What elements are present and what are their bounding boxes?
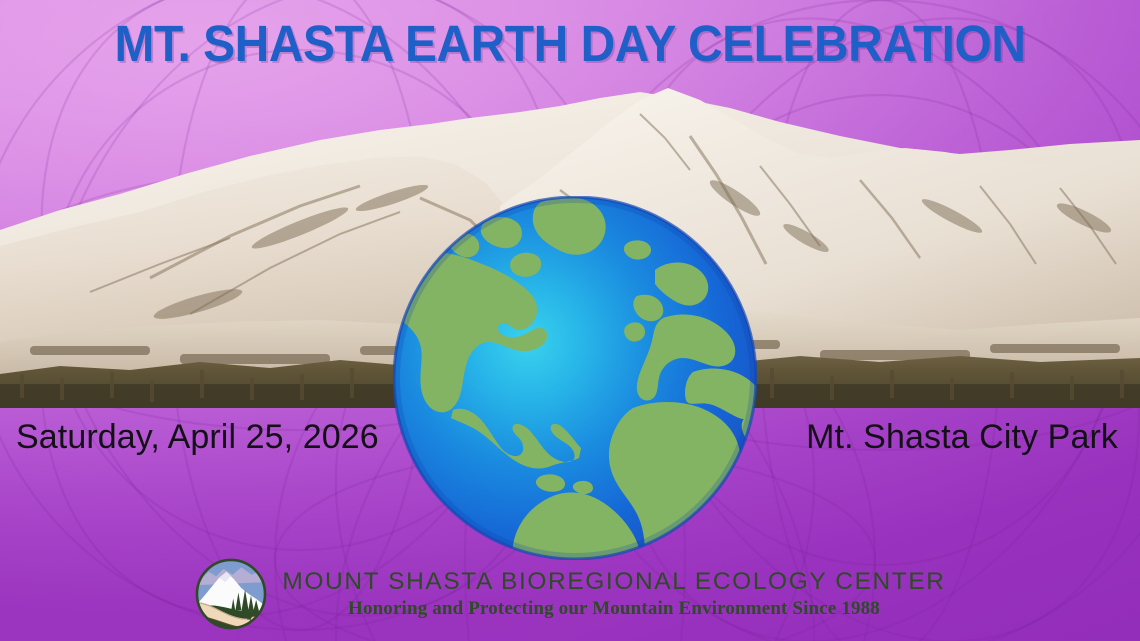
organization-name: MOUNT SHASTA BIOREGIONAL ECOLOGY CENTER <box>282 570 945 595</box>
organization-text: MOUNT SHASTA BIOREGIONAL ECOLOGY CENTER … <box>282 570 945 618</box>
earth-globe-icon <box>393 196 757 560</box>
page-title: MT. SHASTA EARTH DAY CELEBRATION <box>34 14 1106 73</box>
hand-holding-mountain-icon <box>194 557 268 631</box>
organization-logo: MOUNT SHASTA BIOREGIONAL ECOLOGY CENTER … <box>0 557 1140 631</box>
earth-day-poster: MT. SHASTA EARTH DAY CELEBRATION <box>0 0 1140 641</box>
organization-tagline: Honoring and Protecting our Mountain Env… <box>348 599 880 618</box>
